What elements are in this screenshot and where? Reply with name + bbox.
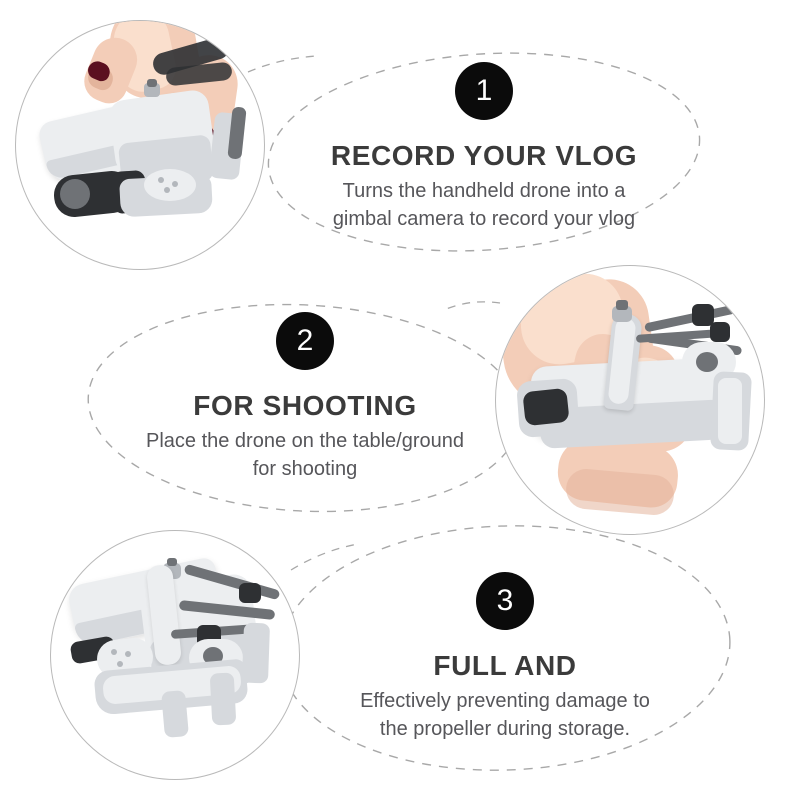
photo-step-2: [495, 265, 765, 535]
step-body-1: Turns the handheld drone into a gimbal c…: [300, 178, 668, 233]
step-title-1: RECORD YOUR VLOG: [300, 140, 668, 172]
panel-step-3: 3 FULL AND Effectively preventing damage…: [310, 572, 700, 743]
infographic-stage: 1 RECORD YOUR VLOG Turns the handheld dr…: [0, 0, 800, 800]
step-body-3: Effectively preventing damage to the pro…: [310, 688, 700, 743]
step-title-3: FULL AND: [310, 650, 700, 682]
step-body-3-line-2: the propeller during storage.: [310, 716, 700, 744]
step-body-2: Place the drone on the table/ground for …: [110, 428, 500, 483]
drone-illustration-1: [16, 21, 264, 269]
panel-step-2: 2 FOR SHOOTING Place the drone on the ta…: [110, 312, 500, 483]
step-body-1-line-2: gimbal camera to record your vlog: [300, 206, 668, 234]
photo-step-3: [50, 530, 300, 780]
drone-illustration-2: [496, 266, 764, 534]
step-badge-1: 1: [455, 62, 513, 120]
connector-line-2: [444, 302, 500, 310]
panel-step-1: 1 RECORD YOUR VLOG Turns the handheld dr…: [300, 62, 668, 233]
step-body-3-line-1: Effectively preventing damage to: [310, 688, 700, 716]
step-body-2-line-1: Place the drone on the table/ground: [110, 428, 500, 456]
step-title-2: FOR SHOOTING: [110, 390, 500, 422]
drone-illustration-3: [51, 531, 299, 779]
photo-step-1: [15, 20, 265, 270]
step-badge-3: 3: [476, 572, 534, 630]
step-badge-2: 2: [276, 312, 334, 370]
connector-line-3: [291, 544, 358, 570]
step-body-1-line-1: Turns the handheld drone into a: [300, 178, 668, 206]
step-body-2-line-2: for shooting: [110, 456, 500, 484]
